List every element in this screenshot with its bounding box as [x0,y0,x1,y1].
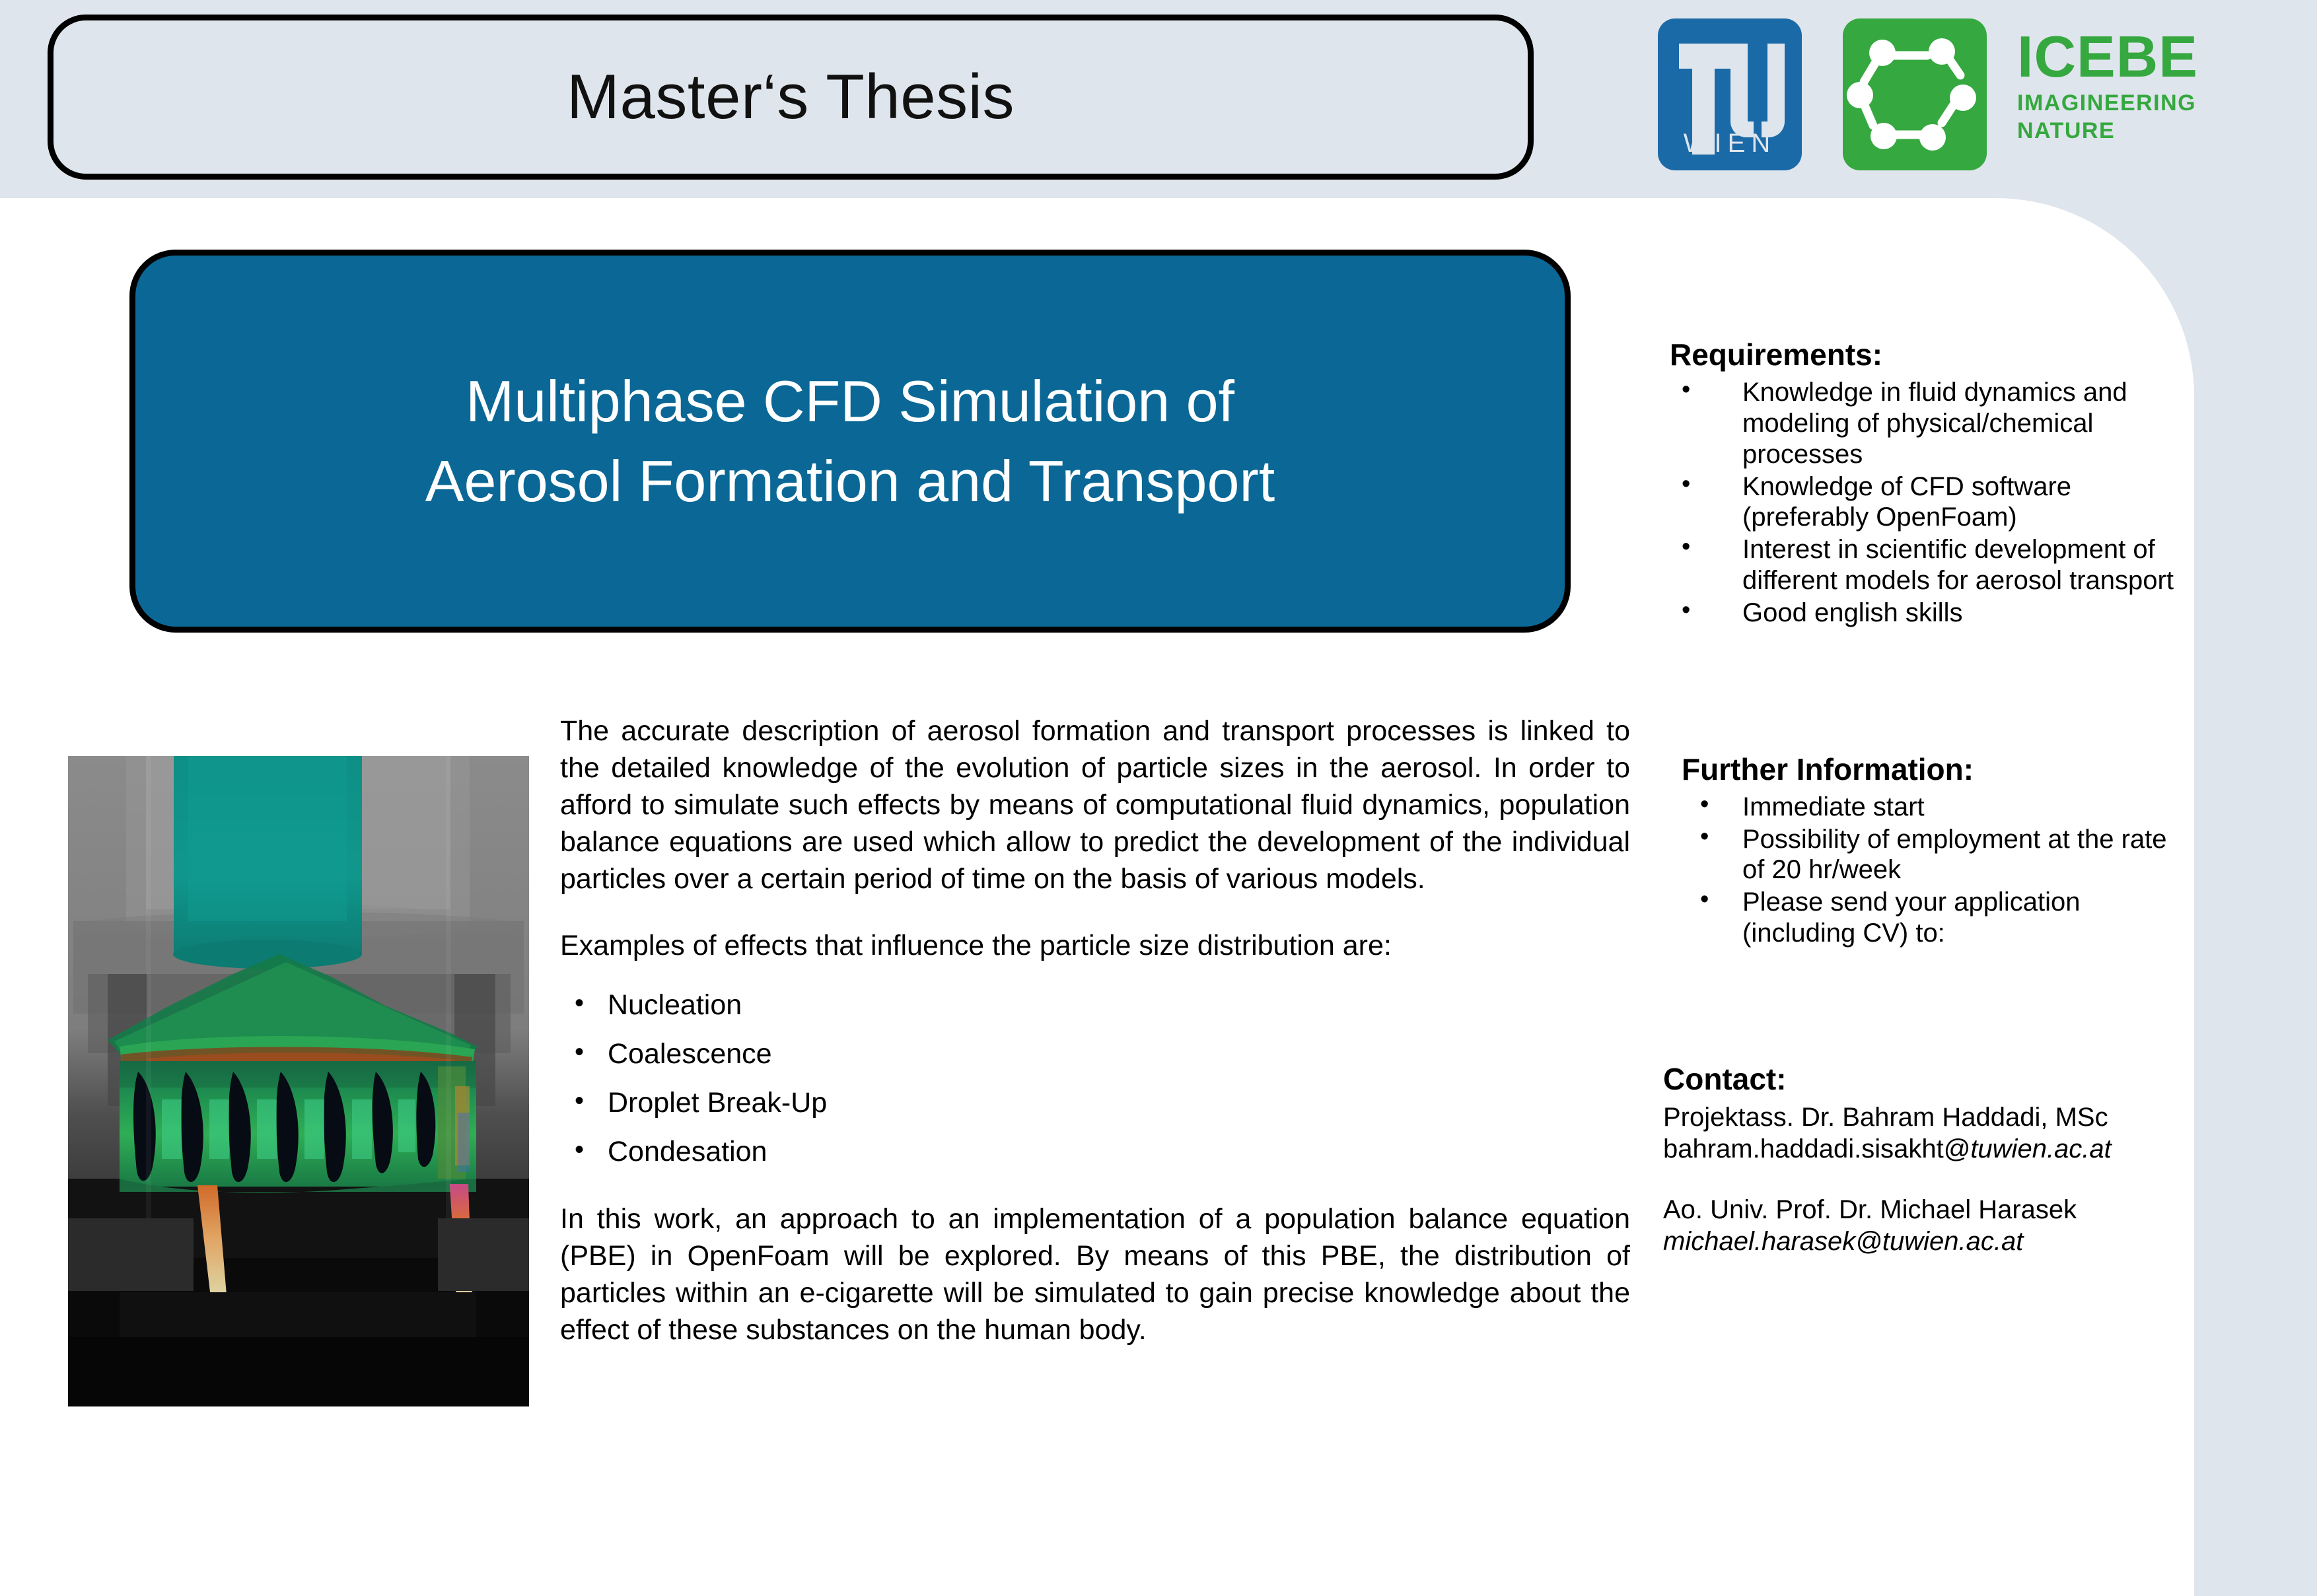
hexagon-molecule-icon [1843,18,1987,170]
requirements-heading: Requirements: [1670,337,2192,373]
icebe-name: ICEBE [2017,30,2198,84]
list-item: Knowledge in fluid dynamics and modeling… [1670,377,2192,469]
page-title: Master‘s Thesis [567,65,1015,129]
list-item: Droplet Break-Up [560,1085,1630,1122]
further-information-block: Further Information: Immediate start Pos… [1670,751,2192,949]
contact-person-2-name: Ao. Univ. Prof. Dr. Michael Harasek [1663,1194,2192,1226]
requirements-list: Knowledge in fluid dynamics and modeling… [1670,377,2192,628]
contact-person-2-email[interactable]: michael.harasek@tuwien.ac.at [1663,1226,2192,1257]
body-paragraph-1: The accurate description of aerosol form… [560,713,1630,897]
info-column: Requirements: Knowledge in fluid dynamic… [1670,337,2192,1257]
body-paragraph-2: In this work, an approach to an implemen… [560,1201,1630,1349]
project-title-box: Multiphase CFD Simulation of Aerosol For… [129,250,1571,633]
tu-wordmark: WIEN [1658,129,1802,158]
contact-spacer [1663,1165,2192,1194]
cfd-render-graphic [68,756,529,1406]
contact-person-1-email-local: bahram.haddadi.sisakht@ [1663,1134,1970,1163]
project-title-line-1: Multiphase CFD Simulation of [466,361,1234,441]
contact-block: Contact: Projektass. Dr. Bahram Haddadi,… [1663,1061,2192,1257]
effects-lead-in: Examples of effects that influence the p… [560,928,1630,965]
contact-person-1-name: Projektass. Dr. Bahram Haddadi, MSc [1663,1101,2192,1133]
list-item: Condesation [560,1134,1630,1171]
list-item: Interest in scientific development of di… [1670,534,2192,596]
effects-list: Nucleation Coalescence Droplet Break-Up … [560,987,1630,1171]
thesis-title-box: Master‘s Thesis [48,15,1534,180]
icebe-wordmark-group: ICEBE IMAGINEERING NATURE [2017,18,2198,143]
icebe-tagline-line1: IMAGINEERING [2017,92,2198,116]
body-text-column: The accurate description of aerosol form… [560,713,1630,1348]
list-item: Good english skills [1670,598,2192,629]
contact-heading: Contact: [1663,1061,2192,1097]
cfd-simulation-image [68,756,529,1406]
list-item: Please send your application (including … [1682,887,2192,949]
logo-group: WIEN ICEBE IMAGINEERING [1658,18,2198,170]
icebe-tagline-line2: NATURE [2017,120,2198,143]
list-item: Possibility of employment at the rate of… [1682,824,2192,886]
list-item: Nucleation [560,987,1630,1024]
further-information-heading: Further Information: [1682,751,2192,788]
tu-wien-logo: WIEN [1658,18,1802,170]
list-item: Knowledge of CFD software (preferably Op… [1670,471,2192,534]
further-information-list: Immediate start Possibility of employmen… [1682,792,2192,949]
icebe-molecule-icon [1843,18,1987,170]
list-item: Immediate start [1682,792,2192,823]
requirements-block: Requirements: Knowledge in fluid dynamic… [1670,337,2192,629]
list-item: Coalescence [560,1036,1630,1073]
contact-person-1-email-domain: tuwien.ac.at [1970,1134,2111,1163]
contact-person-1-email[interactable]: bahram.haddadi.sisakht@tuwien.ac.at [1663,1133,2192,1165]
project-title-line-2: Aerosol Formation and Transport [425,441,1275,521]
